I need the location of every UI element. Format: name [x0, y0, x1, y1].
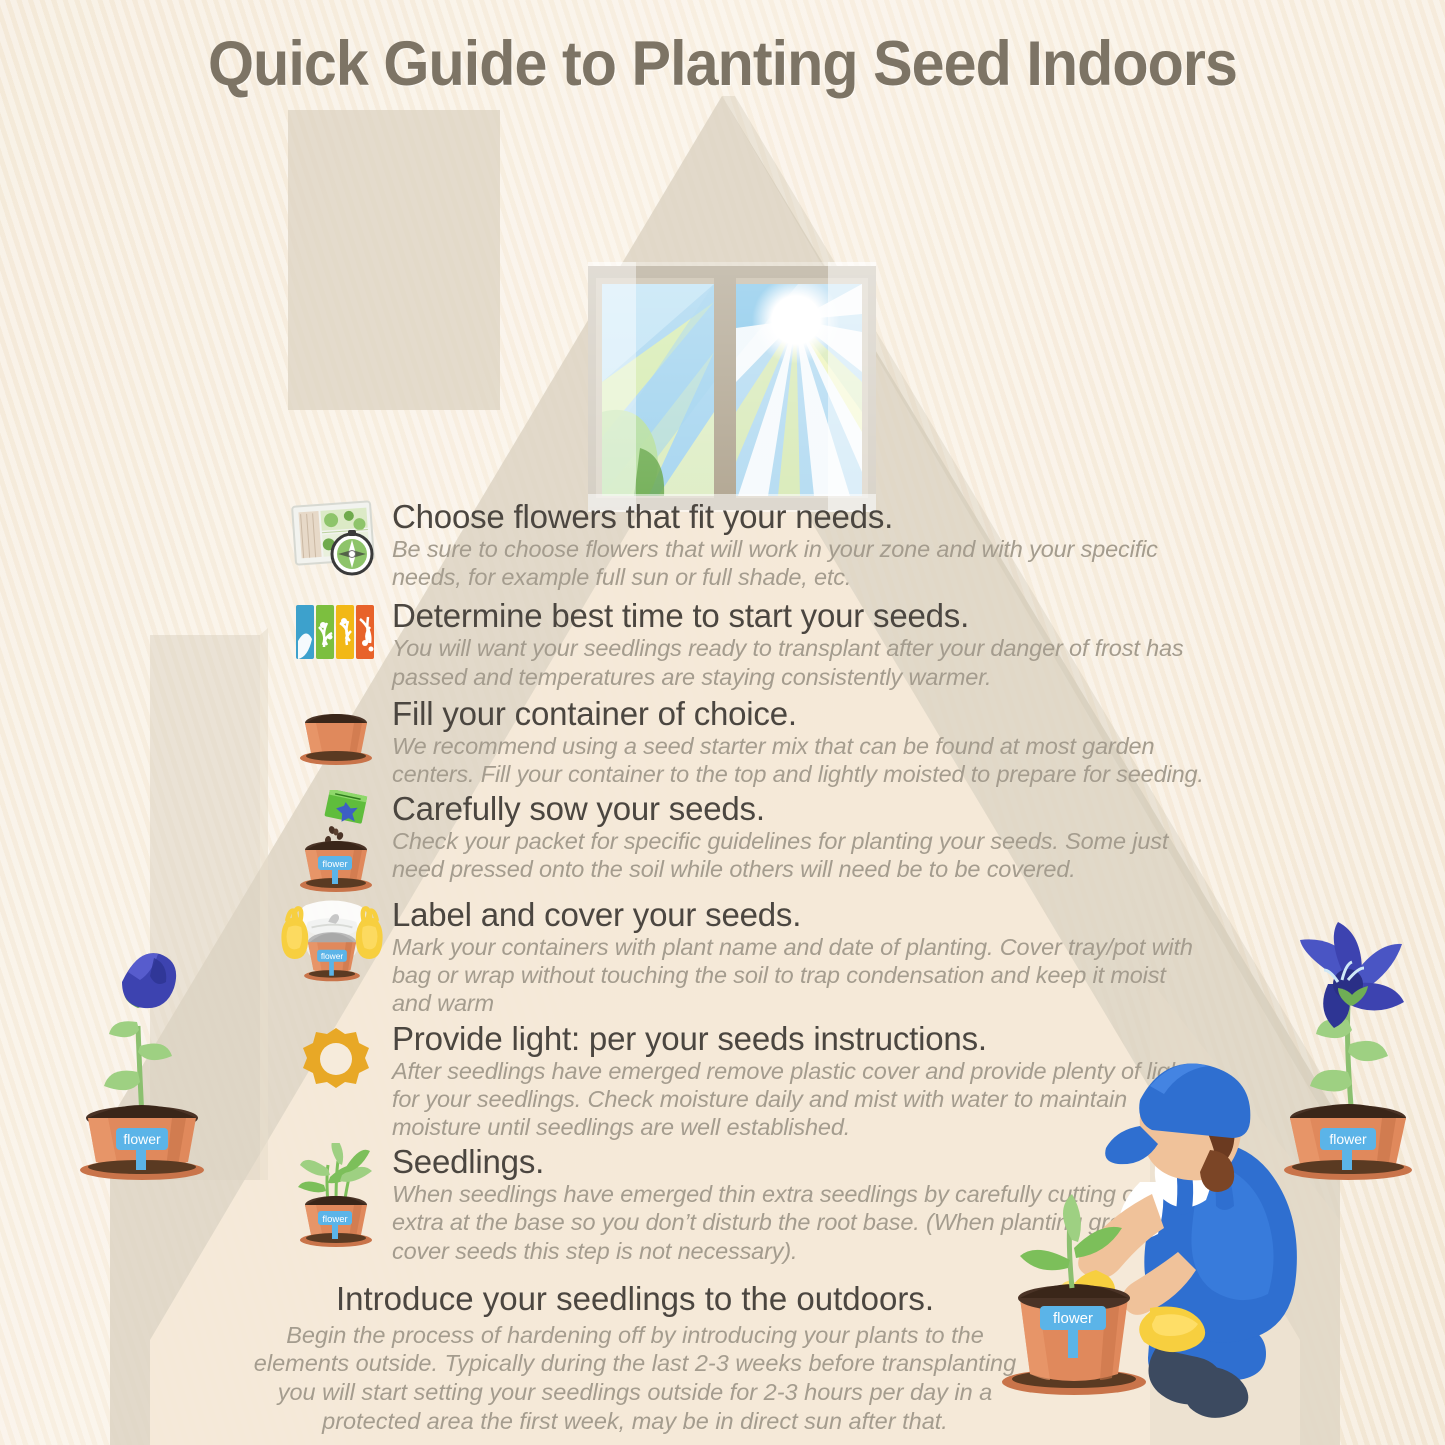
- outro-block: Introduce your seedlings to the outdoors…: [250, 1282, 1020, 1435]
- step-heading: Choose flowers that fit your needs.: [392, 500, 1208, 534]
- step-icon-slot: [288, 1020, 384, 1094]
- step-body: Be sure to choose flowers that will work…: [392, 535, 1208, 591]
- four-seasons-bars-icon: [288, 601, 384, 663]
- step-icon-slot: flower: [288, 1143, 384, 1247]
- step-heading: Carefully sow your seeds.: [392, 792, 1208, 826]
- step-item: Fill your container of choice. We recomm…: [288, 695, 1208, 788]
- gloves-covering-pot-icon: flower: [280, 896, 384, 996]
- filled-pot-icon: [288, 695, 384, 771]
- seed-packet-sowing-icon: flower: [288, 790, 384, 894]
- garden-plan-compass-icon: [288, 498, 384, 582]
- step-icon-slot: flower: [288, 896, 384, 996]
- svg-text:flower: flower: [321, 951, 343, 961]
- step-body: Check your packet for specific guideline…: [392, 827, 1208, 883]
- infographic-poster: Quick Guide to Planting Seed Indoors: [0, 0, 1445, 1445]
- step-item: flower Label and cover your seeds. Mark …: [288, 896, 1208, 1018]
- svg-text:flower: flower: [322, 859, 347, 870]
- step-icon-slot: [288, 597, 384, 663]
- step-item: Choose flowers that fit your needs. Be s…: [288, 498, 1208, 591]
- outro-body: Begin the process of hardening off by in…: [250, 1321, 1020, 1436]
- sunny-window-illustration: [588, 262, 876, 512]
- step-item: flower Carefully sow your seeds. Check y…: [288, 790, 1208, 894]
- svg-text:flower: flower: [1329, 1131, 1367, 1147]
- seedlings-pot-icon: flower: [288, 1143, 384, 1247]
- sun-light-icon: [288, 1024, 384, 1094]
- step-heading: Determine best time to start your seeds.: [392, 599, 1208, 633]
- step-body: We recommend using a seed starter mix th…: [392, 732, 1208, 788]
- step-icon-slot: flower: [288, 790, 384, 894]
- step-body: You will want your seedlings ready to tr…: [392, 634, 1208, 690]
- outro-heading: Introduce your seedlings to the outdoors…: [250, 1282, 1020, 1317]
- step-icon-slot: [288, 498, 384, 582]
- step-icon-slot: [288, 695, 384, 771]
- step-heading: Fill your container of choice.: [392, 697, 1208, 731]
- svg-text:flower: flower: [1053, 1310, 1093, 1327]
- svg-text:flower: flower: [123, 1131, 161, 1147]
- gardener-crouching-with-pot: flower: [1000, 1030, 1330, 1422]
- svg-text:flower: flower: [322, 1214, 347, 1225]
- potted-blue-bud-flower: flower: [62, 922, 222, 1180]
- step-heading: Label and cover your seeds.: [392, 898, 1208, 932]
- step-item: Determine best time to start your seeds.…: [288, 597, 1208, 690]
- page-title: Quick Guide to Planting Seed Indoors: [43, 28, 1401, 100]
- step-body: Mark your containers with plant name and…: [392, 933, 1208, 1018]
